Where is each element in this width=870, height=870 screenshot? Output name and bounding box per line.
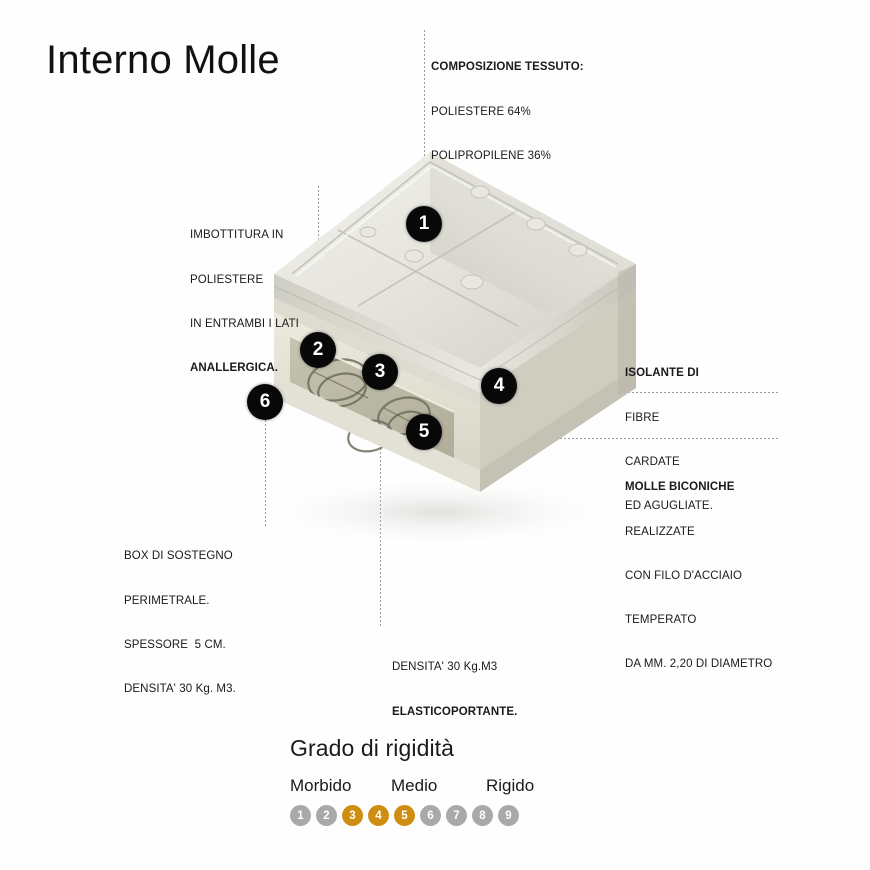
annotation-line: POLIPROPILENE 36% bbox=[431, 149, 584, 164]
rigidity-dot-4[interactable]: 4 bbox=[368, 805, 389, 826]
annotation-line: MOLLE BICONICHE bbox=[625, 480, 772, 495]
rigidity-label-rigido: Rigido bbox=[486, 776, 534, 796]
callout-marker-2[interactable]: 2 bbox=[300, 332, 336, 368]
annotation-line: ANALLERGICA. bbox=[190, 361, 299, 376]
rigidity-dot-row: 1 2 3 4 5 6 7 8 9 bbox=[290, 805, 590, 826]
annotation-box-di-sostegno: BOX DI SOSTEGNO PERIMETRALE. SPESSORE 5 … bbox=[124, 520, 236, 711]
annotation-imbottitura: IMBOTTITURA IN POLIESTERE IN ENTRAMBI I … bbox=[190, 199, 299, 390]
annotation-line: FIBRE bbox=[625, 411, 713, 426]
annotation-line: DENSITA' 30 Kg.M3 bbox=[392, 660, 517, 675]
annotation-line: PERIMETRALE. bbox=[124, 594, 236, 609]
callout-marker-4[interactable]: 4 bbox=[481, 368, 517, 404]
annotation-line: IN ENTRAMBI I LATI bbox=[190, 317, 299, 332]
rigidity-dot-1[interactable]: 1 bbox=[290, 805, 311, 826]
annotation-line: COMPOSIZIONE TESSUTO: bbox=[431, 60, 584, 75]
rigidity-dot-6[interactable]: 6 bbox=[420, 805, 441, 826]
annotation-densita-elasticoportante: DENSITA' 30 Kg.M3 ELASTICOPORTANTE. bbox=[392, 631, 517, 734]
rigidity-label-medio: Medio bbox=[391, 776, 437, 796]
rigidity-scale: Grado di rigidità Morbido Medio Rigido 1… bbox=[290, 735, 590, 826]
annotation-line: POLIESTERE bbox=[190, 273, 299, 288]
rigidity-dot-9[interactable]: 9 bbox=[498, 805, 519, 826]
annotation-molle-biconiche: MOLLE BICONICHE REALIZZATE CON FILO D'AC… bbox=[625, 451, 772, 687]
annotation-line: TEMPERATO bbox=[625, 613, 772, 628]
annotation-line: REALIZZATE bbox=[625, 525, 772, 540]
rigidity-labels: Morbido Medio Rigido bbox=[290, 776, 590, 796]
annotation-composizione-tessuto: COMPOSIZIONE TESSUTO: POLIESTERE 64% POL… bbox=[431, 31, 584, 178]
rigidity-title: Grado di rigidità bbox=[290, 735, 590, 762]
annotation-line: IMBOTTITURA IN bbox=[190, 228, 299, 243]
rigidity-dot-3[interactable]: 3 bbox=[342, 805, 363, 826]
annotation-line: SPESSORE 5 CM. bbox=[124, 638, 236, 653]
rigidity-dot-7[interactable]: 7 bbox=[446, 805, 467, 826]
rigidity-dot-5[interactable]: 5 bbox=[394, 805, 415, 826]
rigidity-dot-8[interactable]: 8 bbox=[472, 805, 493, 826]
rigidity-label-morbido: Morbido bbox=[290, 776, 351, 796]
callout-marker-3[interactable]: 3 bbox=[362, 354, 398, 390]
callout-marker-5[interactable]: 5 bbox=[406, 414, 442, 450]
page-title: Interno Molle bbox=[46, 38, 280, 82]
annotation-line: DA MM. 2,20 DI DIAMETRO bbox=[625, 657, 772, 672]
callout-marker-1[interactable]: 1 bbox=[406, 206, 442, 242]
annotation-line: POLIESTERE 64% bbox=[431, 105, 584, 120]
annotation-line: BOX DI SOSTEGNO bbox=[124, 549, 236, 564]
rigidity-dot-2[interactable]: 2 bbox=[316, 805, 337, 826]
annotation-line: ELASTICOPORTANTE. bbox=[392, 705, 517, 720]
annotation-line: CON FILO D'ACCIAIO bbox=[625, 569, 772, 584]
annotation-line: ISOLANTE DI bbox=[625, 366, 713, 381]
annotation-line: DENSITA' 30 Kg. M3. bbox=[124, 682, 236, 697]
